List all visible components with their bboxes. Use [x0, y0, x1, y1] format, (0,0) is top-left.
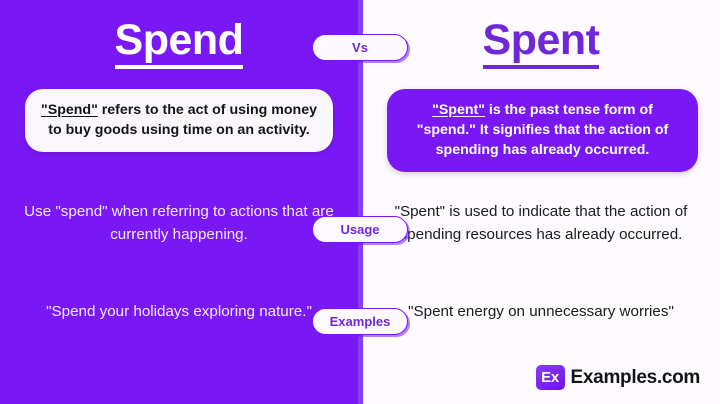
left-example-text: "Spend your holidays exploring nature." [16, 300, 342, 323]
right-definition-term: "Spent" [432, 102, 485, 118]
right-column: Spent "Spent" is the past tense form of … [362, 0, 720, 404]
right-usage-text: "Spent" is used to indicate that the act… [378, 200, 704, 246]
badge-examples: Examples [312, 308, 408, 335]
right-heading-text: Spent [483, 18, 600, 69]
left-heading-text: Spend [115, 18, 244, 69]
logo-wordmark: Examples.com [571, 367, 700, 389]
logo-mark-icon: Ex [536, 365, 565, 390]
comparison-infographic: Spend "Spend" refers to the act of using… [0, 0, 720, 404]
badge-vs: Vs [312, 34, 408, 61]
left-heading: Spend [0, 18, 358, 69]
badge-usage: Usage [312, 216, 408, 243]
left-definition-card: "Spend" refers to the act of using money… [25, 89, 333, 152]
right-heading: Spent [362, 18, 720, 69]
brand-logo: Ex Examples.com [536, 365, 700, 390]
left-definition-term: "Spend" [41, 102, 98, 118]
left-column: Spend "Spend" refers to the act of using… [0, 0, 358, 404]
right-definition-card: "Spent" is the past tense form of "spend… [387, 89, 698, 172]
right-example-text: "Spent energy on unnecessary worries" [378, 300, 704, 323]
left-usage-text: Use "spend" when referring to actions th… [16, 200, 342, 246]
